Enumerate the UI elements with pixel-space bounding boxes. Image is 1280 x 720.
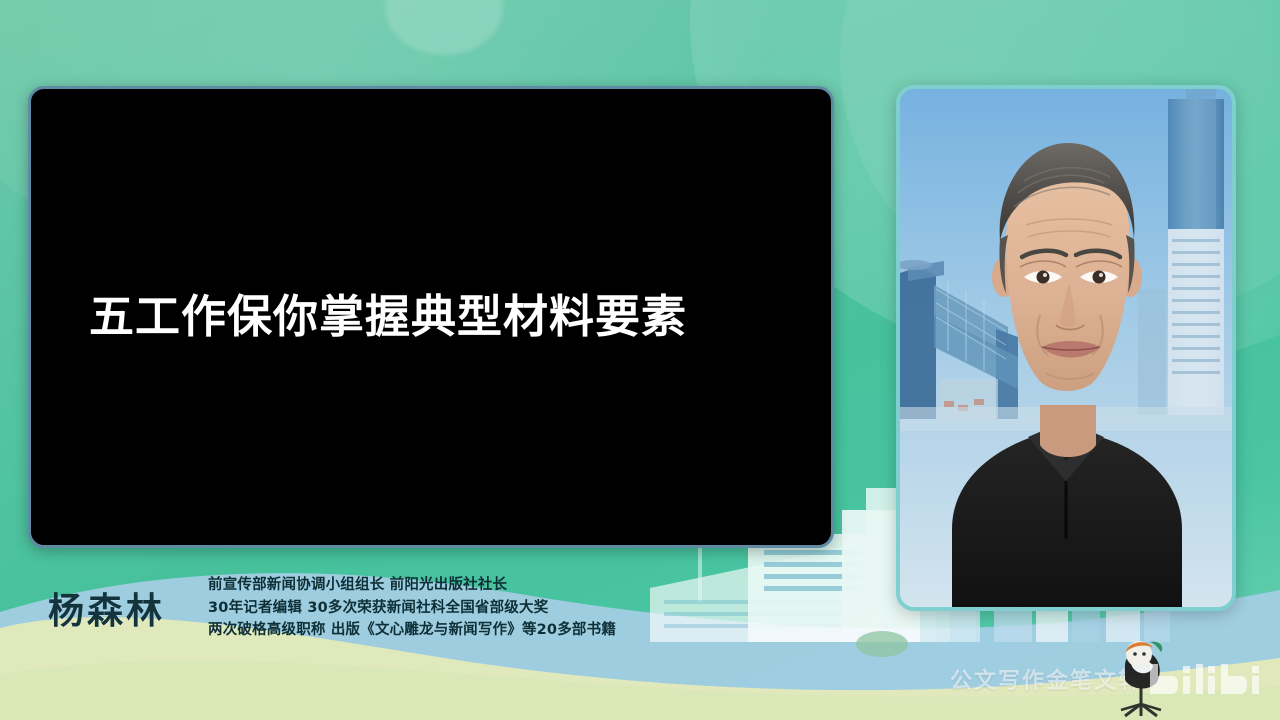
credential-line-3: 两次破格高级职称 出版《文心雕龙与新闻写作》等20多部书籍: [208, 619, 688, 642]
bilibili-logo: [1148, 660, 1264, 706]
credential-line-1: 前宣传部新闻协调小组组长 前阳光出版社社长: [208, 574, 688, 597]
speaker-video-panel[interactable]: [896, 85, 1236, 611]
slide-title: 五工作保你掌握典型材料要素: [31, 290, 687, 344]
speaker-name: 杨森林: [48, 582, 165, 634]
speaker-video-content: [900, 89, 1232, 607]
credential-line-2: 30年记者编辑 30多次荣获新闻社科全国省部级大奖: [208, 597, 688, 620]
slide-panel[interactable]: 五工作保你掌握典型材料要素: [28, 86, 834, 548]
video-frame: 五工作保你掌握典型材料要素: [0, 0, 1280, 720]
speaker-credentials: 前宣传部新闻协调小组组长 前阳光出版社社长 30年记者编辑 30多次荣获新闻社科…: [208, 574, 688, 642]
